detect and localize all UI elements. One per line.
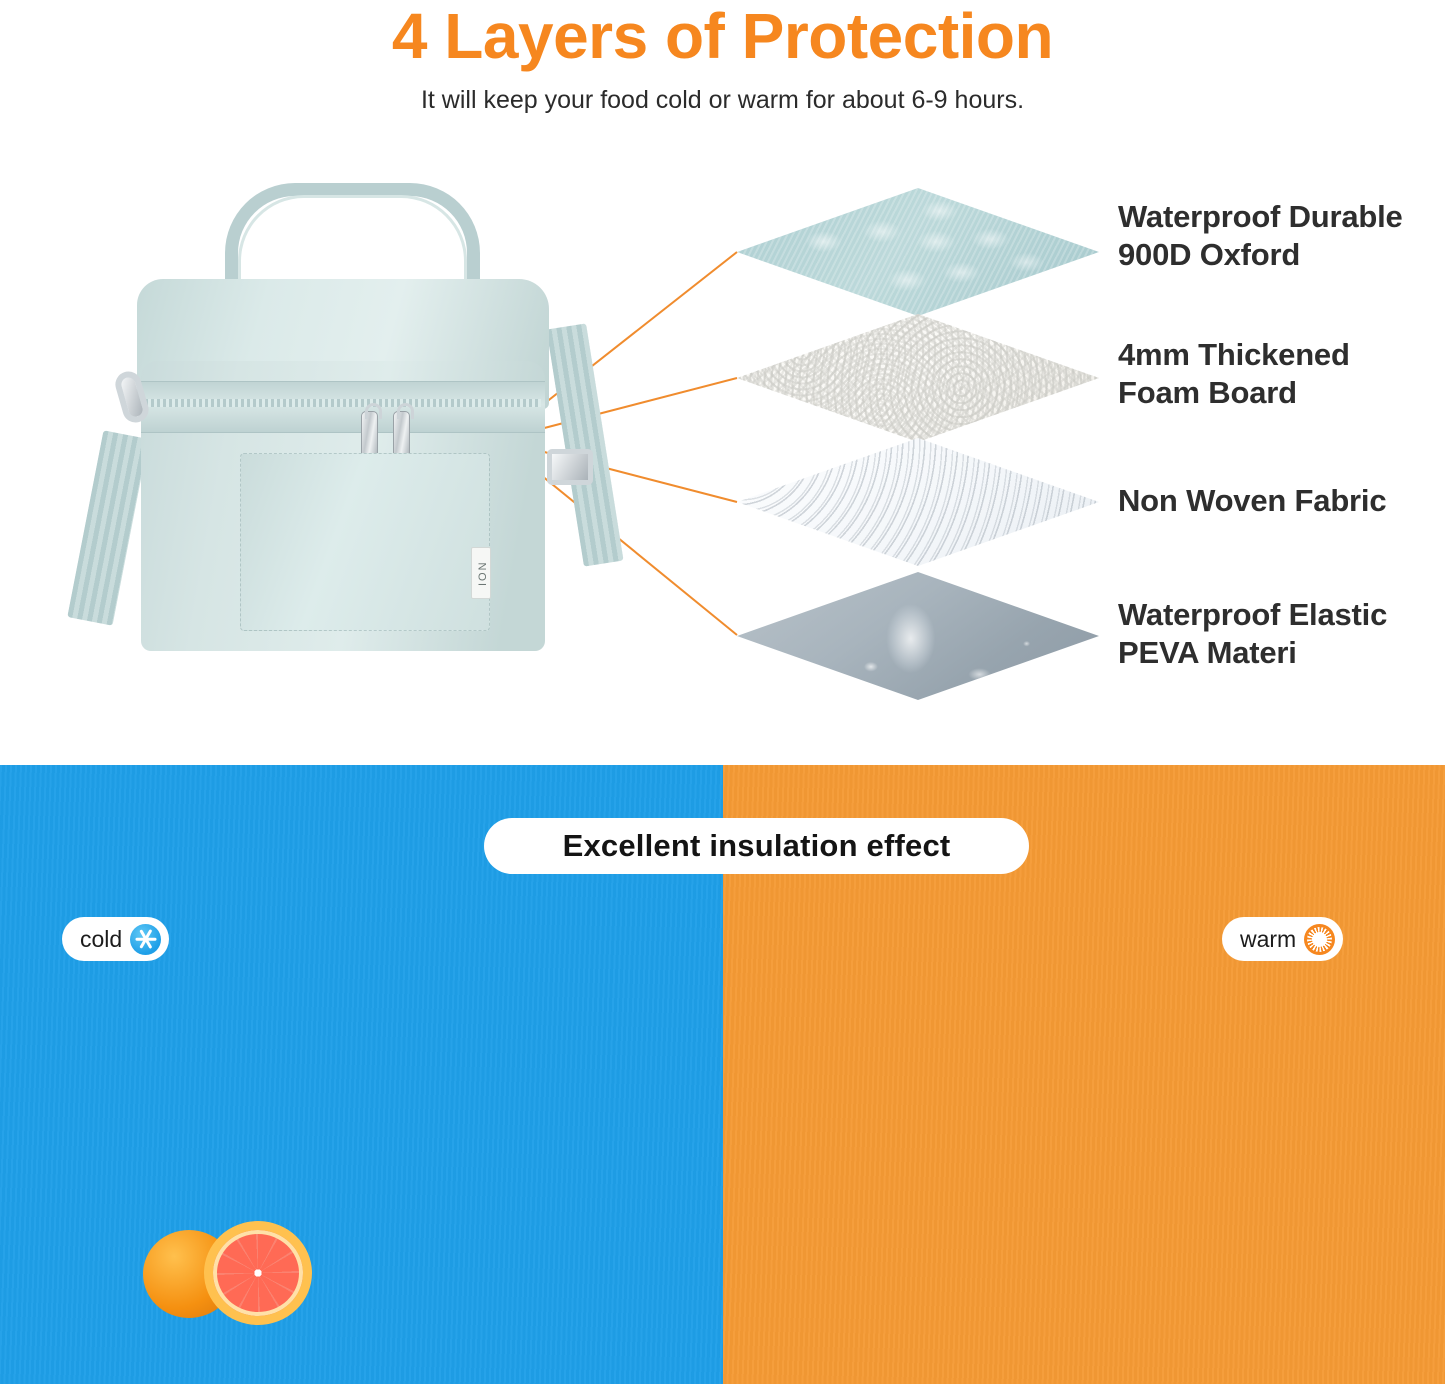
layer-face-foam: [737, 314, 1099, 442]
badge-warm: warm: [1222, 917, 1343, 961]
layers-section: ION Waterproof Durable 900D Oxford 4mm T…: [0, 130, 1445, 755]
product-infographic: 4 Layers of Protection It will keep your…: [0, 0, 1445, 1384]
layer-label-peva-line2: PEVA Materi: [1118, 634, 1387, 672]
badge-cold-label: cold: [80, 926, 122, 953]
layer-label-foam: 4mm Thickened Foam Board: [1118, 336, 1350, 412]
zipper-teeth: [145, 399, 541, 407]
layer-face-peva: [737, 572, 1099, 700]
insulation-banner: Excellent insulation effect: [484, 818, 1029, 874]
layer-label-foam-line1: 4mm Thickened: [1118, 336, 1350, 374]
layer-sheet-peva: [737, 572, 1099, 700]
front-pocket: [240, 453, 490, 631]
layer-label-oxford-line2: 900D Oxford: [1118, 236, 1403, 274]
layer-label-foam-line2: Foam Board: [1118, 374, 1350, 412]
snowflake-icon: [130, 924, 161, 955]
badge-cold: cold: [62, 917, 169, 961]
shoulder-strap: [67, 430, 148, 625]
sun-icon: [1304, 924, 1335, 955]
lunch-bag-illustration: ION: [75, 175, 635, 675]
layer-label-nonwoven-line1: Non Woven Fabric: [1118, 482, 1386, 520]
layer-label-nonwoven: Non Woven Fabric: [1118, 482, 1386, 520]
layer-label-oxford: Waterproof Durable 900D Oxford: [1118, 198, 1403, 274]
strap-adjuster: [547, 449, 593, 485]
badge-warm-label: warm: [1240, 926, 1296, 953]
zipper-band: [141, 381, 545, 433]
layer-face-nonwoven: [737, 438, 1099, 566]
layer-face-oxford: [737, 188, 1099, 316]
layer-label-oxford-line1: Waterproof Durable: [1118, 198, 1403, 236]
layer-sheet-nonwoven: [737, 438, 1099, 566]
grapefruit-half: [204, 1221, 312, 1325]
brand-tag: ION: [471, 547, 491, 599]
shoulder-strap-right: [546, 323, 623, 566]
layer-label-peva: Waterproof Elastic PEVA Materi: [1118, 596, 1387, 672]
layer-label-peva-line1: Waterproof Elastic: [1118, 596, 1387, 634]
page-title: 4 Layers of Protection: [0, 2, 1445, 71]
page-subtitle: It will keep your food cold or warm for …: [0, 86, 1445, 115]
layer-sheet-foam: [737, 314, 1099, 442]
layer-sheet-oxford: [737, 188, 1099, 316]
